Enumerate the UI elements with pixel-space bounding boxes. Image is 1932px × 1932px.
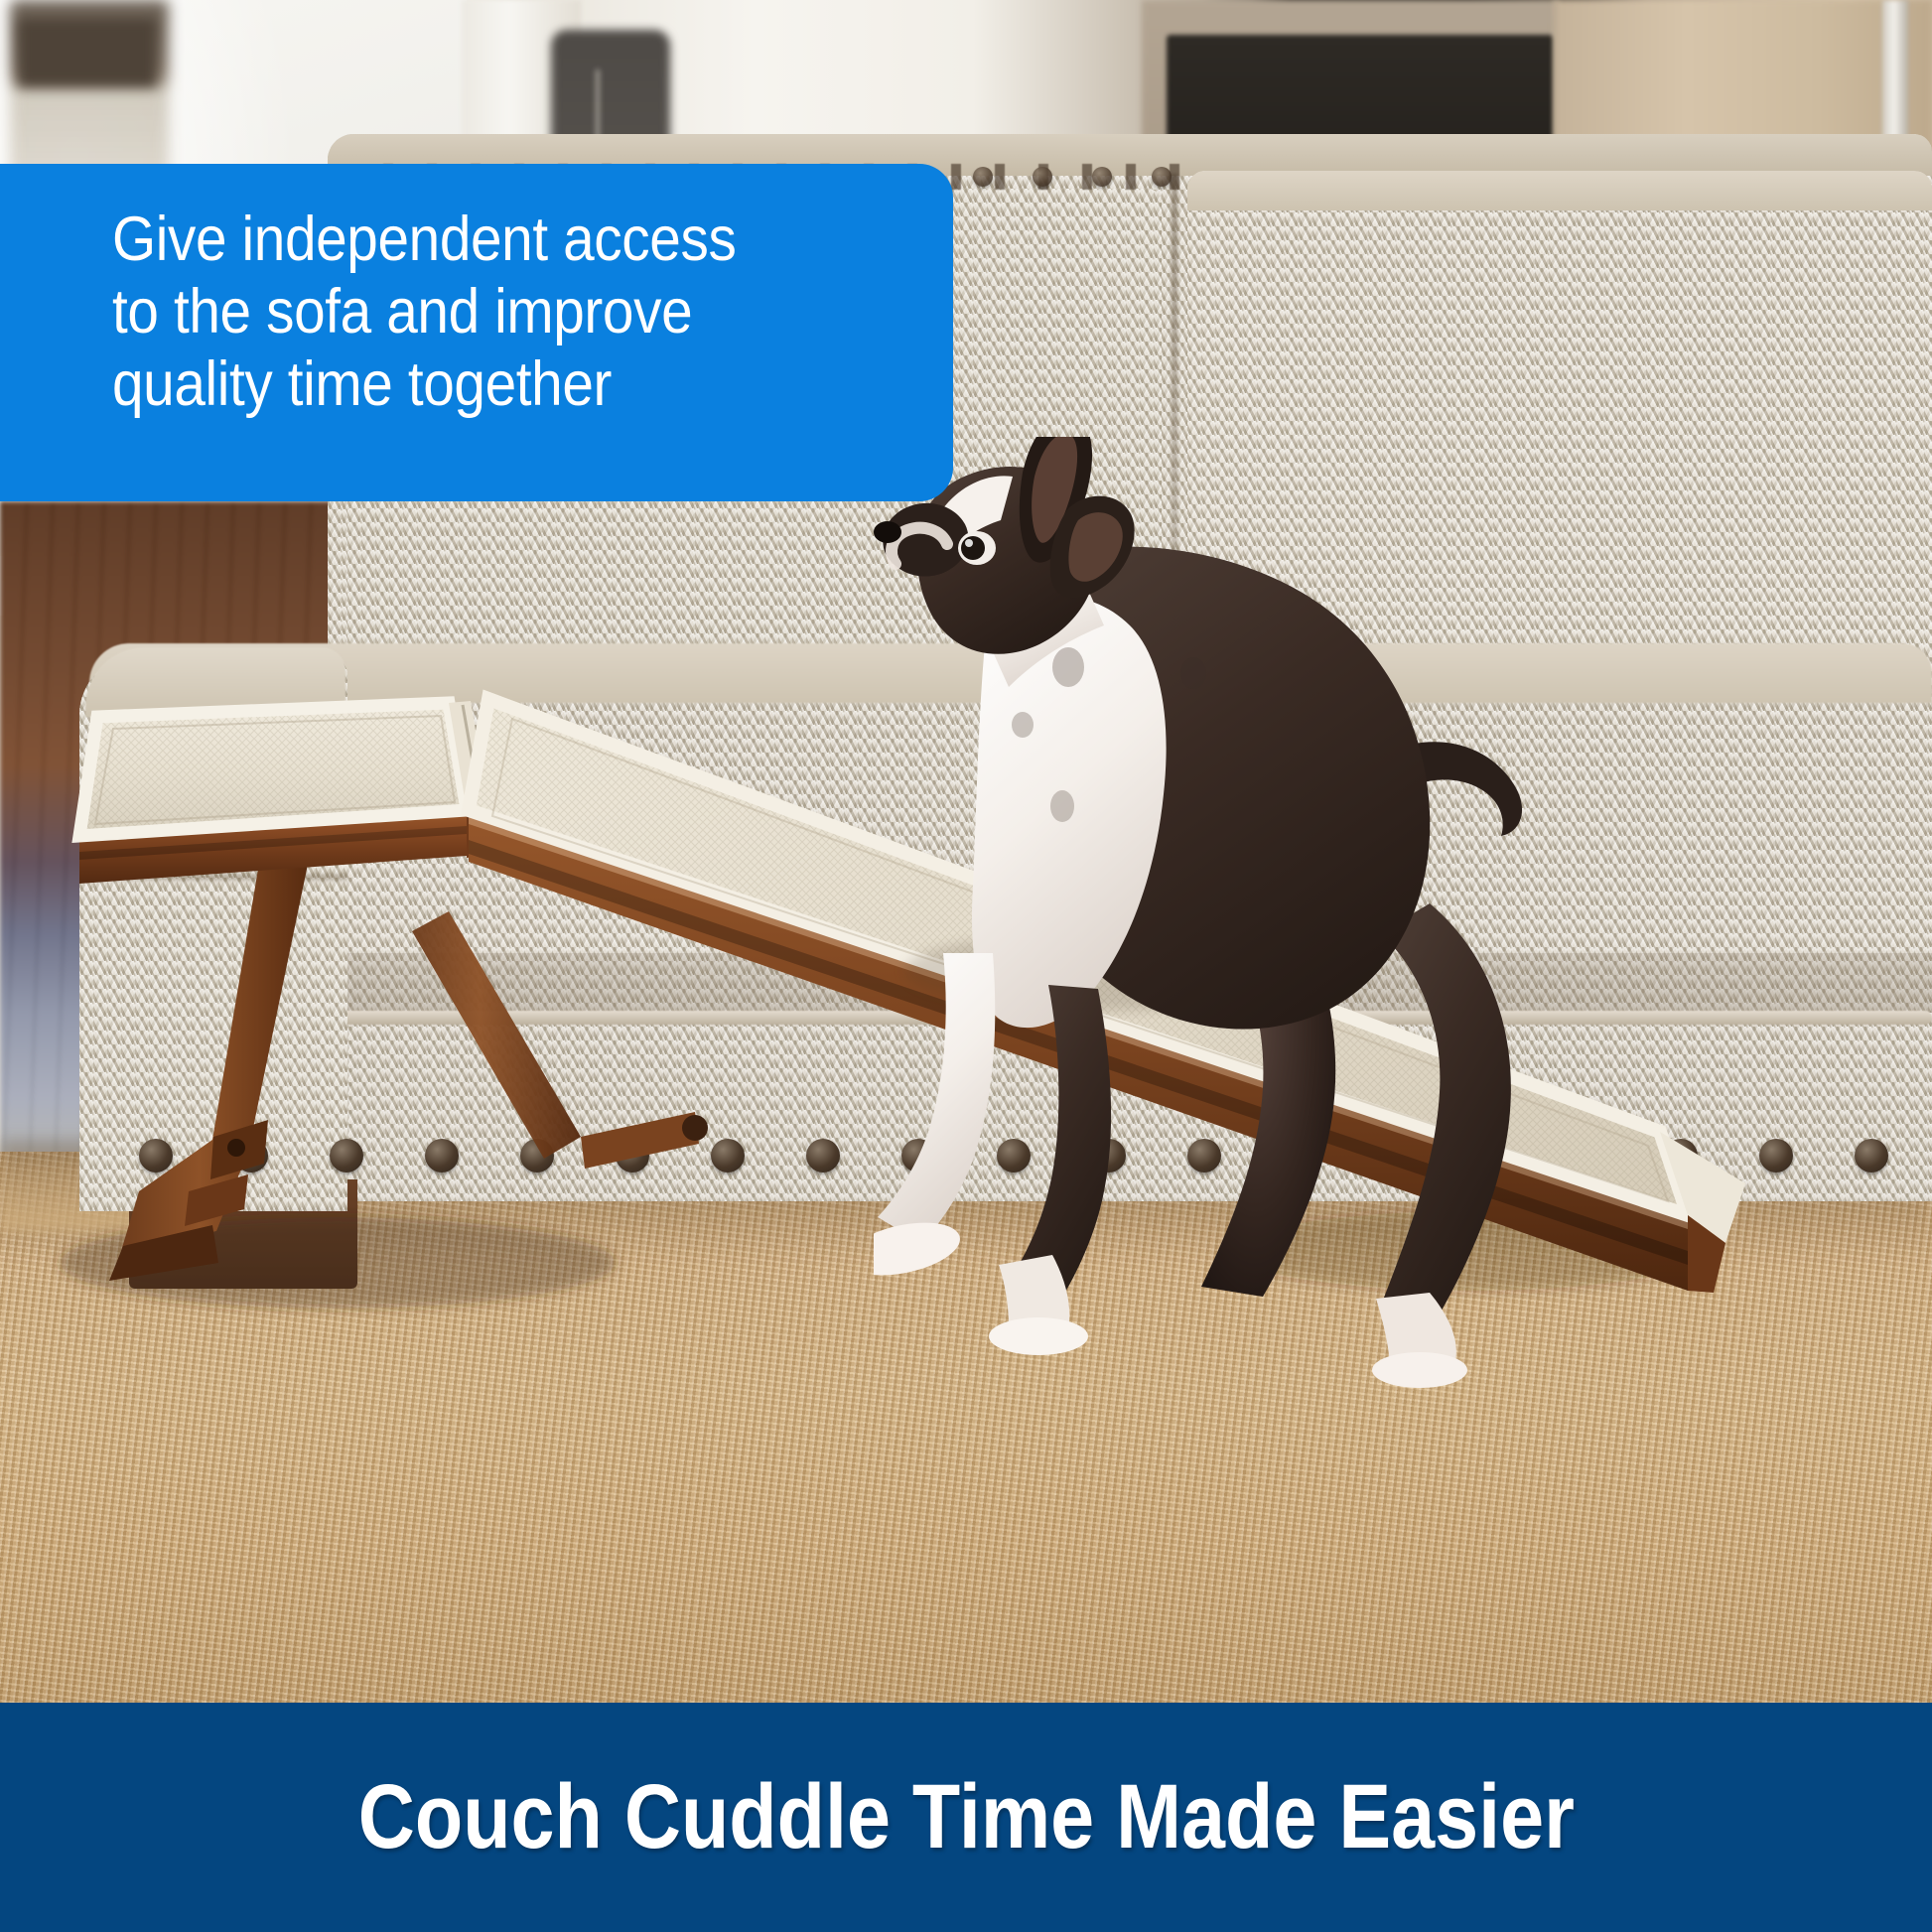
nailhead-stud [520,1139,554,1173]
product-lifestyle-image: Give independent access to the sofa and … [0,0,1932,1932]
nailhead-stud [330,1139,363,1173]
nailhead-stud [806,1139,840,1173]
nailhead-stud [1855,1139,1888,1173]
nailhead-stud-top [1152,167,1172,187]
callout-text: Give independent access to the sofa and … [112,204,817,421]
callout-banner: Give independent access to the sofa and … [0,164,953,501]
nailhead-stud [1759,1139,1793,1173]
nailhead-stud [139,1139,173,1173]
nailhead-stud [616,1139,649,1173]
nailhead-stud-top [1033,167,1052,187]
lantern-cap [18,18,157,87]
sofa-back-cushion-lip [1187,171,1932,210]
nailhead-stud-top [973,167,993,187]
nailhead-stud [711,1139,745,1173]
sofa-left-arm-seam [83,874,347,881]
sofa-left-arm-roll [85,647,345,717]
sofa-left-arm [79,655,347,1211]
banner-headline: Couch Cuddle Time Made Easier [357,1765,1574,1869]
nailhead-stud [425,1139,459,1173]
nailhead-stud-top [1092,167,1112,187]
nailhead-stud [234,1139,268,1173]
boston-terrier-dog [874,437,1688,1390]
bottom-banner: Couch Cuddle Time Made Easier [0,1703,1932,1932]
dog-front-legs [874,953,1111,1355]
